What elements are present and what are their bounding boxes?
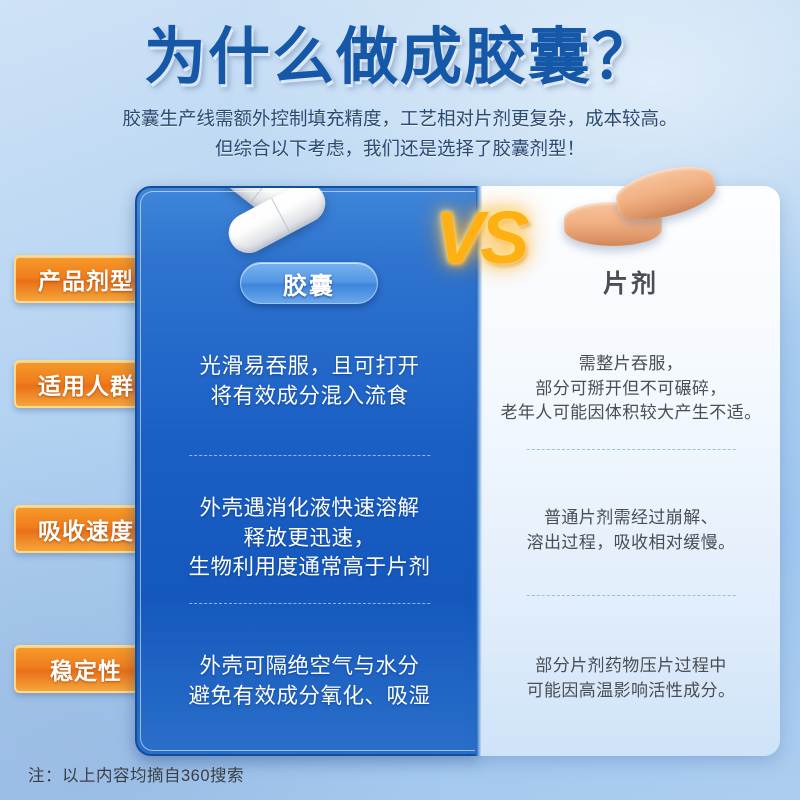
category-tab-label: 稳定性 [50, 652, 122, 686]
capsule-row: 外壳可隔绝空气与水分 避免有效成分氧化、吸湿 [137, 624, 480, 756]
capsule-row-line: 生物利用度通常高于片剂 [137, 553, 480, 583]
tablet-row-line: 普通片剂需经过崩解、 [482, 506, 780, 531]
capsule-row-line: 光滑易吞服，且可打开 [137, 352, 480, 382]
category-tab-label: 适用人群 [38, 367, 134, 401]
comparison-area: 胶囊 光滑易吞服，且可打开 将有效成分混入流食 外壳遇消化液快速溶解 释放更迅速… [135, 186, 780, 756]
capsule-row: 光滑易吞服，且可打开 将有效成分混入流食 [137, 328, 480, 478]
capsule-badge: 胶囊 [240, 262, 378, 304]
page-title: 为什么做成胶囊？ [0, 0, 800, 90]
tablet-row-line: 可能因高温影响活性成分。 [482, 679, 780, 704]
tablet-row-line: 部分可掰开但不可碾碎， [482, 377, 780, 402]
tablet-icon [560, 158, 730, 258]
footnote: 注：以上内容均摘自360搜索 [28, 762, 244, 786]
capsule-row-list: 光滑易吞服，且可打开 将有效成分混入流食 外壳遇消化液快速溶解 释放更迅速， 生… [137, 328, 480, 756]
vs-icon: VS [418, 182, 542, 292]
capsule-row-line: 将有效成分混入流食 [137, 382, 480, 412]
tablet-row-list: 需整片吞服， 部分可掰开但不可碾碎， 老年人可能因体积较大产生不适。 普通片剂需… [482, 326, 780, 762]
capsule-row: 外壳遇消化液快速溶解 释放更迅速， 生物利用度通常高于片剂 [137, 478, 480, 624]
row-divider [527, 449, 736, 450]
tablet-row: 普通片剂需经过崩解、 溶出过程，吸收相对缓慢。 [482, 476, 780, 622]
tablet-shape-b [612, 159, 720, 228]
header: 为什么做成胶囊？ 胶囊生产线需额外控制填充精度，工艺相对片剂更复杂，成本较高。 … [0, 0, 800, 164]
category-tab-label: 产品剂型 [38, 262, 134, 296]
capsule-shape-b [222, 186, 333, 260]
row-divider [189, 455, 431, 456]
row-divider [527, 595, 736, 596]
capsule-row-line: 释放更迅速， [137, 524, 480, 554]
tablet-row-line: 部分片剂药物压片过程中 [482, 654, 780, 679]
tablet-row-line: 老年人可能因体积较大产生不适。 [482, 401, 780, 426]
tablet-row-line: 溶出过程，吸收相对缓慢。 [482, 531, 780, 556]
row-divider [189, 603, 431, 604]
subtitle-line-1: 胶囊生产线需额外控制填充精度，工艺相对片剂更复杂，成本较高。 [0, 90, 800, 134]
capsule-icon [197, 186, 377, 260]
capsule-row-line: 避免有效成分氧化、吸湿 [137, 682, 480, 712]
tablet-row: 需整片吞服， 部分可掰开但不可碾碎， 老年人可能因体积较大产生不适。 [482, 326, 780, 476]
category-tab-label: 吸收速度 [38, 512, 134, 546]
capsule-row-line: 外壳可隔绝空气与水分 [137, 652, 480, 682]
tablet-row-line: 需整片吞服， [482, 352, 780, 377]
capsule-badge-label: 胶囊 [283, 266, 335, 301]
tablet-row: 部分片剂药物压片过程中 可能因高温影响活性成分。 [482, 622, 780, 762]
capsule-row-line: 外壳遇消化液快速溶解 [137, 494, 480, 524]
